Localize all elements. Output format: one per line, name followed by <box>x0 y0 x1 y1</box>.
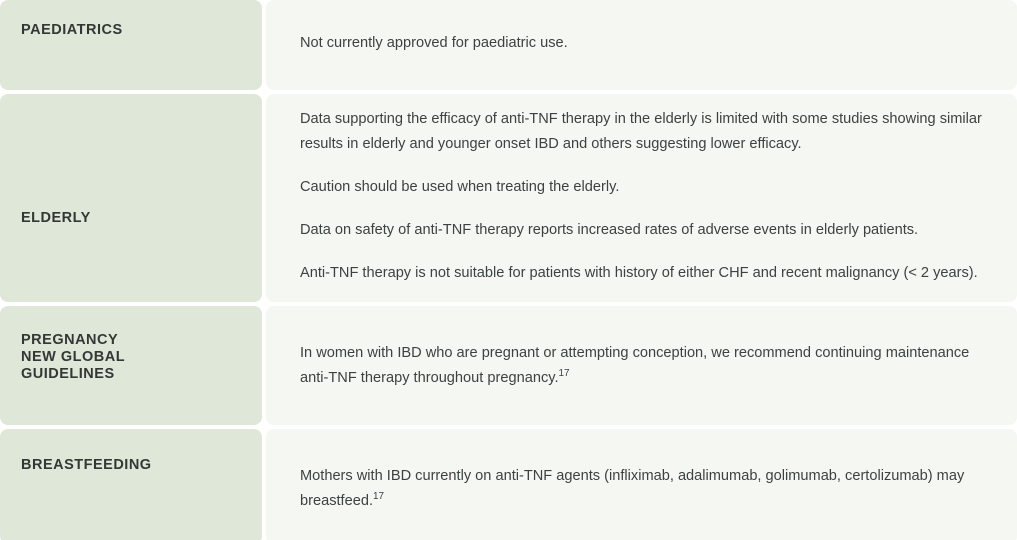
paragraph-text: Mothers with IBD currently on anti-TNF a… <box>300 468 964 509</box>
paragraph: Anti-TNF therapy is not suitable for pat… <box>300 261 995 286</box>
row-label-cell-paediatrics: PAEDIATRICS <box>0 0 262 90</box>
table-row: PAEDIATRICS Not currently approved for p… <box>0 0 1017 90</box>
table-row: BREASTFEEDING Mothers with IBD currently… <box>0 429 1017 540</box>
row-content-cell-breastfeeding: Mothers with IBD currently on anti-TNF a… <box>266 429 1017 540</box>
paragraph: Data supporting the efficacy of anti-TNF… <box>300 107 995 157</box>
paragraph: In women with IBD who are pregnant or at… <box>300 341 995 391</box>
paragraph: Mothers with IBD currently on anti-TNF a… <box>300 464 995 514</box>
row-content-cell-paediatrics: Not currently approved for paediatric us… <box>266 0 1017 90</box>
paragraph-text: Anti-TNF therapy is not suitable for pat… <box>300 265 978 281</box>
paragraph-text: Data supporting the efficacy of anti-TNF… <box>300 111 982 152</box>
paragraph-text: Not currently approved for paediatric us… <box>300 35 568 51</box>
paragraph: Caution should be used when treating the… <box>300 175 995 200</box>
row-label-cell-pregnancy: PREGNANCY NEW GLOBAL GUIDELINES <box>0 306 262 425</box>
paragraph-text: In women with IBD who are pregnant or at… <box>300 345 969 386</box>
row-label-text: BREASTFEEDING <box>21 457 242 474</box>
paragraph-text: Caution should be used when treating the… <box>300 179 619 195</box>
table-row: PREGNANCY NEW GLOBAL GUIDELINES In women… <box>0 306 1017 425</box>
row-label-cell-elderly: ELDERLY <box>0 94 262 302</box>
paragraph: Data on safety of anti-TNF therapy repor… <box>300 218 995 243</box>
paragraph-text: Data on safety of anti-TNF therapy repor… <box>300 222 918 238</box>
row-label-text: PAEDIATRICS <box>21 22 242 39</box>
row-label-text: ELDERLY <box>21 210 242 227</box>
anti-tnf-special-populations-table: PAEDIATRICS Not currently approved for p… <box>0 0 1017 540</box>
citation-reference: 17 <box>373 491 384 502</box>
row-content-cell-elderly: Data supporting the efficacy of anti-TNF… <box>266 94 1017 302</box>
row-label-text: PREGNANCY NEW GLOBAL GUIDELINES <box>21 332 242 383</box>
paragraph: Not currently approved for paediatric us… <box>300 31 995 56</box>
table-row: ELDERLY Data supporting the efficacy of … <box>0 94 1017 302</box>
row-content-cell-pregnancy: In women with IBD who are pregnant or at… <box>266 306 1017 425</box>
citation-reference: 17 <box>559 368 570 379</box>
row-label-cell-breastfeeding: BREASTFEEDING <box>0 429 262 540</box>
